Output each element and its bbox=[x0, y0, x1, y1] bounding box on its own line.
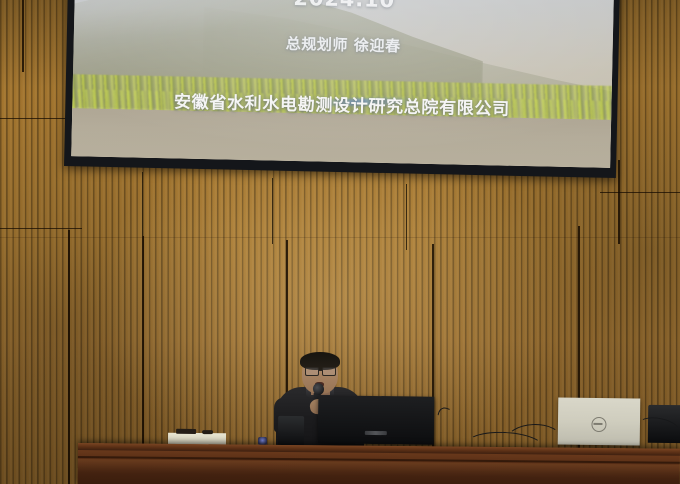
presentation-photo-scene: 2024.10 总规划师 徐迎春 安徽省水利水电勘测设计研究总院有限公司 bbox=[0, 0, 680, 484]
wall-seam-vertical bbox=[578, 226, 580, 484]
projection-screen: 2024.10 总规划师 徐迎春 安徽省水利水电勘测设计研究总院有限公司 bbox=[64, 0, 621, 178]
wall-seam-horizontal bbox=[0, 118, 72, 119]
white-box-item bbox=[176, 429, 196, 434]
black-laptop bbox=[318, 395, 435, 444]
glasses-lens-left bbox=[305, 367, 319, 376]
wall-seam-vertical bbox=[22, 0, 24, 72]
asus-logo-icon bbox=[365, 431, 387, 435]
wall-seam-vertical bbox=[618, 160, 620, 244]
glasses-lens-right bbox=[322, 367, 336, 376]
screen-hanging-cord bbox=[272, 178, 273, 244]
screen-hanging-cord bbox=[142, 172, 143, 236]
screen-hanging-cord bbox=[406, 184, 407, 250]
glasses-bridge bbox=[318, 370, 322, 371]
dark-accessory-box bbox=[278, 416, 304, 446]
silver-laptop bbox=[558, 398, 641, 446]
wall-seam-horizontal bbox=[0, 237, 680, 238]
white-box-item bbox=[202, 430, 213, 434]
wall-seam-horizontal bbox=[0, 228, 82, 229]
wall-seam-vertical bbox=[68, 230, 70, 484]
projection-screen-surface: 2024.10 总规划师 徐迎春 安徽省水利水电勘测设计研究总院有限公司 bbox=[71, 0, 615, 168]
dell-logo-icon bbox=[591, 417, 606, 432]
podium-desk bbox=[78, 443, 680, 484]
wall-seam-horizontal bbox=[600, 192, 680, 193]
